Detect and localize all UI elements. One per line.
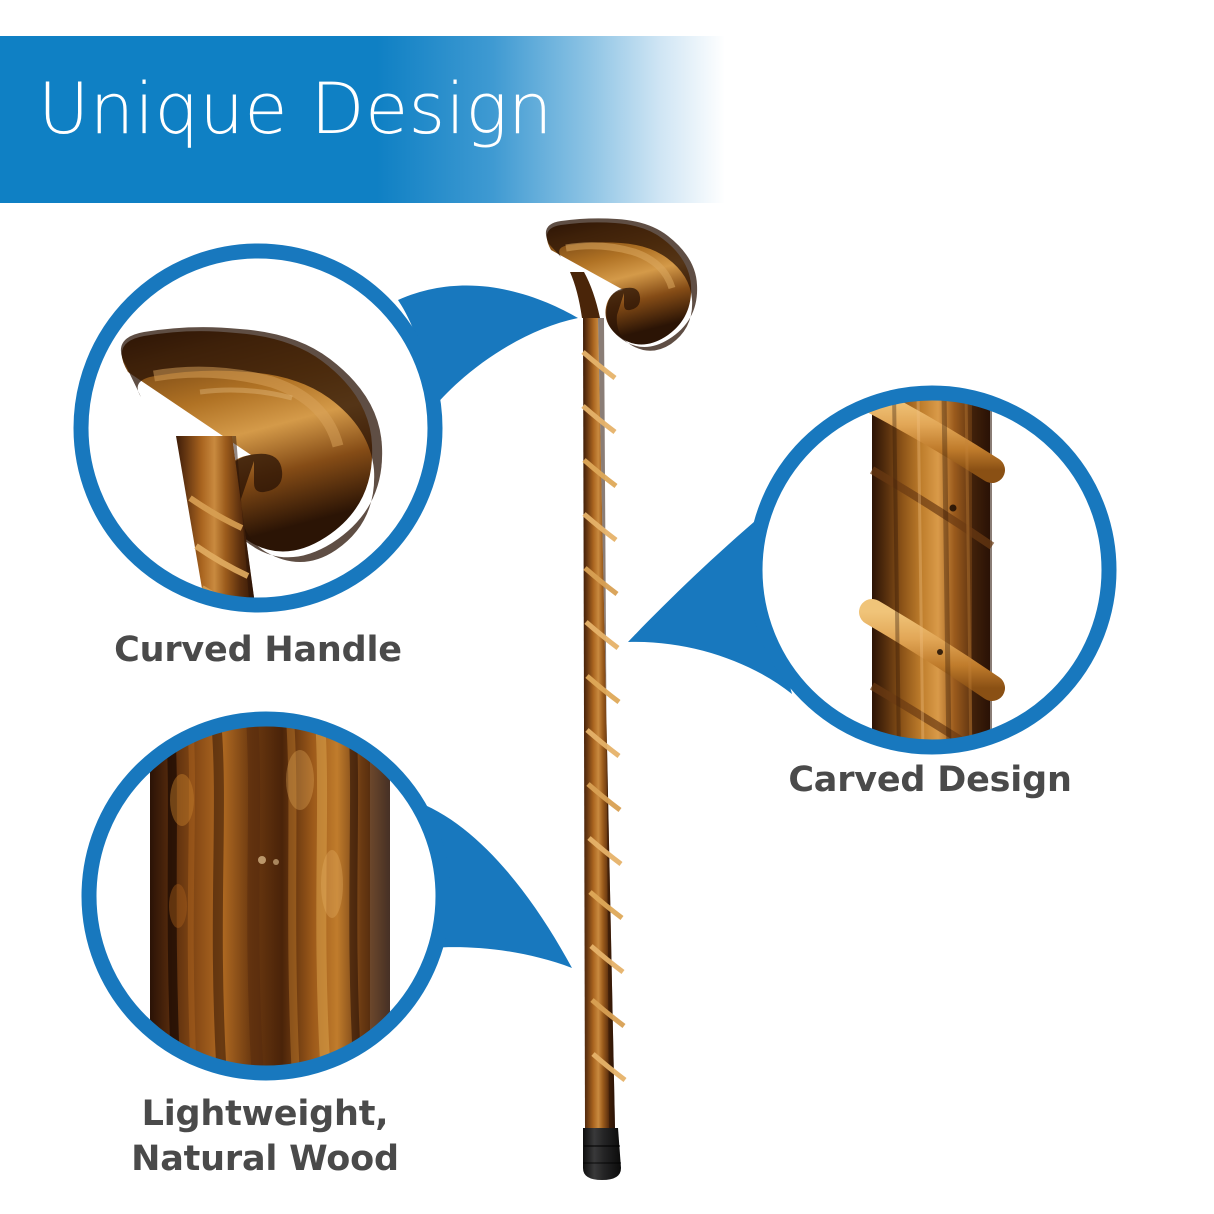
callout-label-natural-wood-line2: Natural Wood xyxy=(131,1139,399,1179)
cane-rubber-tip xyxy=(583,1128,621,1180)
callout-label-natural-wood-line1: Lightweight, xyxy=(142,1094,389,1134)
infographic-canvas: Unique Design xyxy=(0,0,1214,1214)
walking-cane xyxy=(546,218,697,1180)
callout-natural-wood[interactable] xyxy=(84,716,572,1081)
cane-handle-neck xyxy=(570,272,600,318)
callout-label-natural-wood: Lightweight,Natural Wood xyxy=(95,1092,435,1182)
callout-carved-design[interactable] xyxy=(628,390,1115,760)
product-illustration xyxy=(0,0,1214,1214)
callout-curved-handle[interactable] xyxy=(80,250,578,614)
callout-label-curved-handle: Curved Handle xyxy=(88,628,428,673)
callout-label-carved-design: Carved Design xyxy=(760,758,1100,803)
